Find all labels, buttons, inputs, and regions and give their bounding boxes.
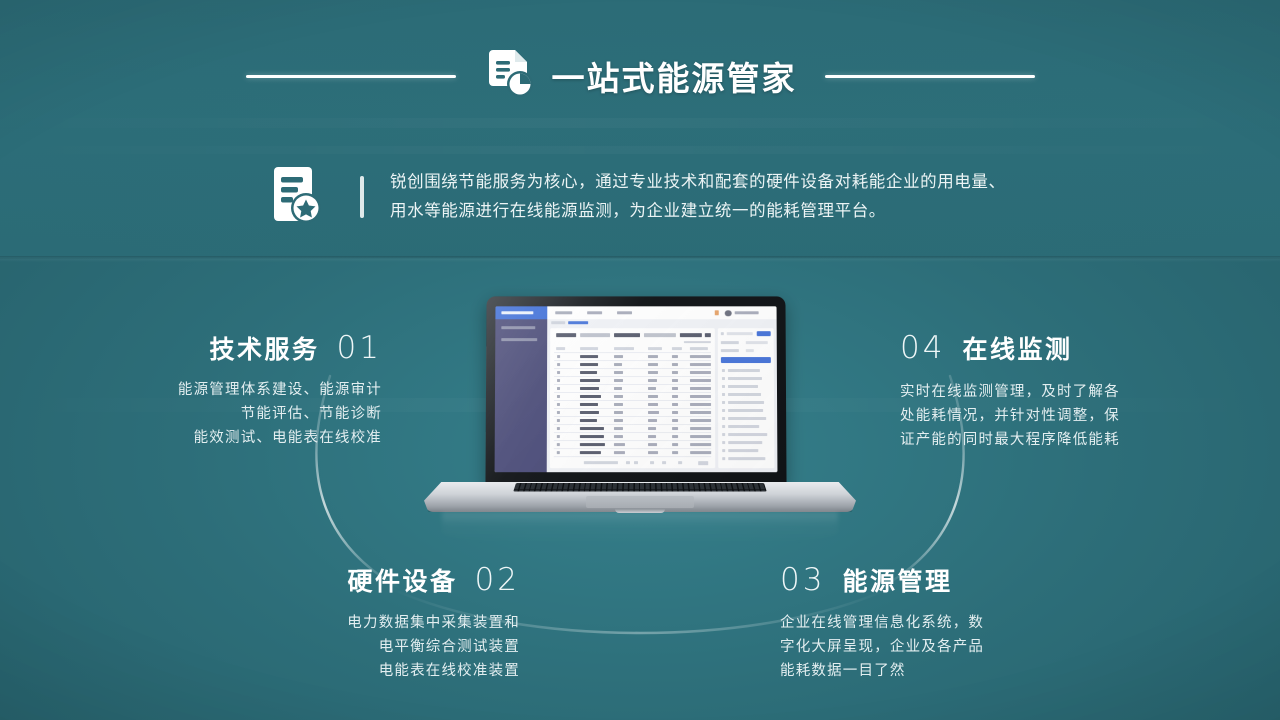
filter-value-1[interactable] [580,333,610,336]
topbar-nav-1[interactable] [555,311,572,314]
feature-label-01: 技术服务 [210,330,320,366]
dashboard-topbar [547,306,776,320]
dashboard-sidebar [495,306,548,472]
col-header-6 [690,347,708,349]
filter-label-2 [614,333,640,336]
panel-primary-button[interactable] [721,357,771,363]
panel-filter-label-2 [721,349,739,351]
slide-header: 一站式能源管家 [0,44,1280,108]
col-header-1 [556,347,565,349]
panel-filter-label-1 [721,341,739,343]
logo-text [501,311,533,314]
feature-block-01: 技术服务 01 能源管理体系建设、能源审计 节能评估、节能诊断 能效测试、电能表… [20,330,382,450]
pagination-summary [584,461,618,464]
pagination-prev[interactable] [626,461,630,464]
feature-body-03: 企业在线管理信息化系统，数 字化大屏呈现，企业及各产品 能耗数据一目了然 [780,611,1110,683]
feature-body-02: 电力数据集中采集装置和 电平衡综合测试装置 电能表在线校准装置 [190,611,520,683]
sidebar-item-2[interactable] [501,338,537,341]
dashboard-side-panel [718,328,775,468]
col-header-2 [580,347,598,349]
document-chart-icon [484,47,536,106]
feature-label-03: 能源管理 [842,562,952,598]
pagination-next[interactable] [678,461,682,464]
laptop-trackpad [586,496,694,508]
feature-number-04: 04 [900,330,945,366]
col-header-4 [648,347,662,349]
topbar-nav-2[interactable] [587,311,602,314]
feature-number-02: 02 [475,562,520,598]
panel-filter-value-1[interactable] [746,341,768,343]
intro-divider [360,176,364,218]
laptop-keyboard [513,483,766,492]
filter-value-2[interactable] [644,333,676,336]
feature-block-03: 03 能源管理 企业在线管理信息化系统，数 字化大屏呈现，企业及各产品 能耗数据… [780,562,1110,683]
feature-heading-04: 04 在线监测 [900,330,1262,366]
intro-description: 锐创围绕节能服务为核心，通过专业技术和配套的硬件设备对耗能企业的用电量、 用水等… [390,168,1006,226]
username [735,311,759,314]
background-seam [0,256,1280,262]
col-header-3 [614,347,634,349]
slide-root: 一站式能源管家 锐创围绕节能服务为核心，通过专业技术和配套的硬件设备对耗能企业的… [0,0,1280,720]
search-icon [721,332,724,334]
breadcrumb [551,321,565,323]
feature-label-02: 硬件设备 [348,562,458,598]
col-header-5 [672,347,682,349]
laptop-screen [495,306,778,472]
alert-icon[interactable] [715,310,719,315]
pagination-page-1[interactable] [634,461,638,464]
header-rule-left [246,75,456,78]
header-rule-right [825,75,1035,78]
feature-number-03: 03 [780,562,825,598]
filter-label-3 [680,333,702,336]
feature-heading-01: 技术服务 01 [20,330,382,366]
breadcrumb-current [568,321,588,323]
feature-block-02: 硬件设备 02 电力数据集中采集装置和 电平衡综合测试装置 电能表在线校准装置 [190,562,520,683]
feature-number-01: 01 [337,330,382,366]
search-button[interactable] [757,331,771,336]
feature-body-04: 实时在线监测管理，及时了解各 处能耗情况，并针对性调整，保 证产能的同时最大程序… [900,380,1262,452]
filter-label-1 [556,333,576,336]
pagination-goto[interactable] [698,461,708,465]
panel-filter-value-2[interactable] [746,349,754,351]
table-meta [684,341,711,343]
feature-heading-02: 硬件设备 02 [190,562,520,598]
pagination-page-2[interactable] [650,461,654,464]
filter-value-3[interactable] [705,333,711,336]
laptop-mockup [424,296,856,541]
laptop-lid [485,296,786,486]
topbar-nav-3[interactable] [617,311,632,314]
laptop-reflection [442,512,838,546]
dashboard-table-card [550,328,715,468]
page-title: 一站式能源管家 [552,52,797,100]
feature-label-04: 在线监测 [962,330,1072,366]
document-star-icon [268,163,328,232]
avatar[interactable] [725,310,732,316]
feature-body-01: 能源管理体系建设、能源审计 节能评估、节能诊断 能效测试、电能表在线校准 [20,378,382,450]
intro-block: 锐创围绕节能服务为核心，通过专业技术和配套的硬件设备对耗能企业的用电量、 用水等… [268,158,1258,236]
feature-heading-03: 03 能源管理 [780,562,1110,598]
search-input[interactable] [727,332,753,335]
header-title-group: 一站式能源管家 [484,47,797,106]
dashboard-main [547,319,778,472]
energy-dashboard [495,306,778,472]
feature-block-04: 04 在线监测 实时在线监测管理，及时了解各 处能耗情况，并针对性调整，保 证产… [900,330,1262,452]
sidebar-item-1[interactable] [501,326,535,329]
pagination-page-3[interactable] [662,461,666,464]
